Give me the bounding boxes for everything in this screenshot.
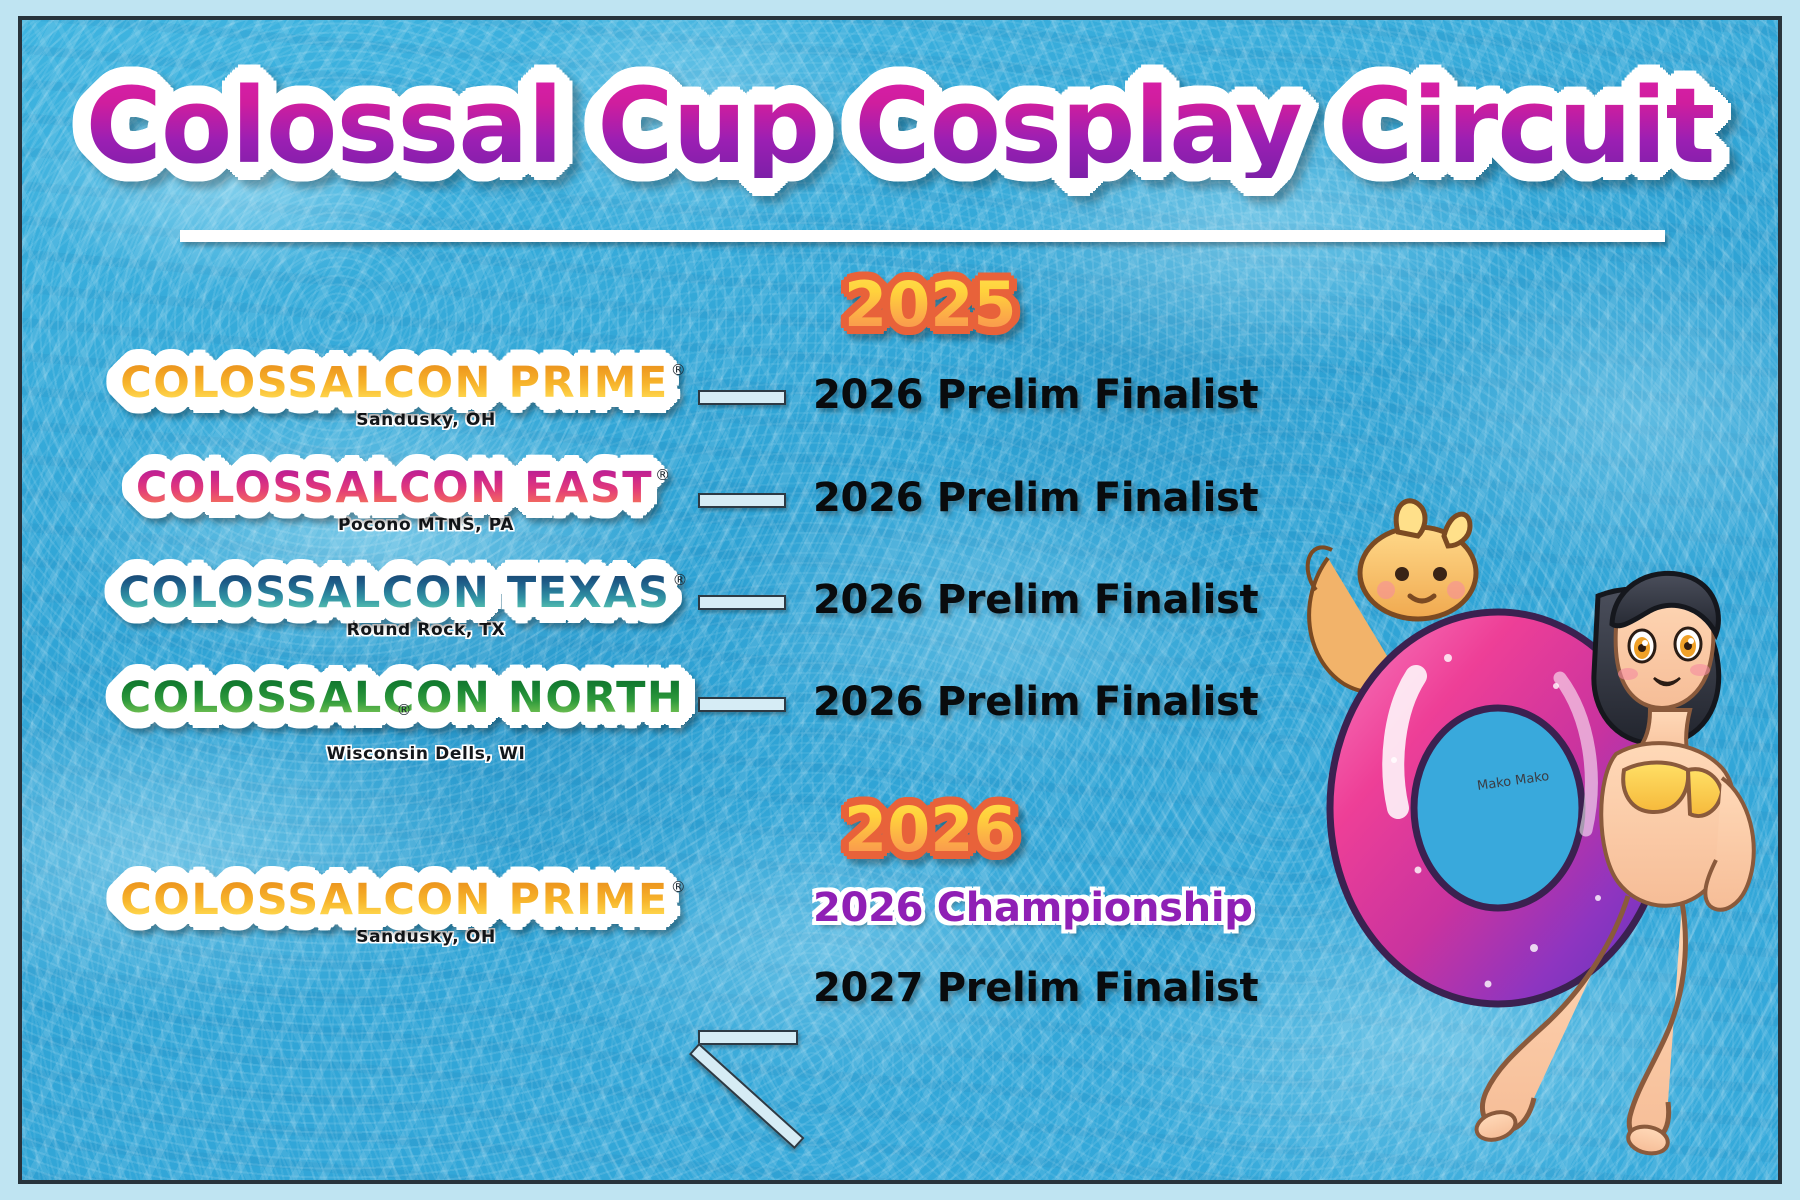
event-location: Round Rock, TX (117, 620, 687, 640)
connector-line-texas-2025 (698, 595, 786, 610)
registered-trademark-icon: ® (671, 878, 686, 896)
title-divider-rule (180, 230, 1665, 242)
connector-line-prime-2025 (698, 390, 786, 405)
event-logo-prime-2026[interactable]: COLOSSALCON PRIME® Sandusky, OH (117, 875, 687, 947)
event-logo-prime-2025[interactable]: COLOSSALCON PRIME® Sandusky, OH (117, 358, 687, 430)
connector-line-north-2025 (698, 697, 786, 712)
poster-canvas: Colossal Cup Cosplay Circuit 2025 COLOSS… (0, 0, 1800, 1200)
outcome-championship-2026: 2026 Championship (813, 885, 1253, 931)
title-container: Colossal Cup Cosplay Circuit (22, 74, 1778, 178)
registered-trademark-icon: ® (397, 701, 412, 719)
registered-trademark-icon: ® (672, 571, 687, 589)
event-location: Sandusky, OH (117, 410, 687, 430)
registered-trademark-icon: ® (655, 466, 670, 484)
poster-frame: Colossal Cup Cosplay Circuit 2025 COLOSS… (18, 16, 1782, 1184)
logo-wordmark: COLOSSALCON EAST (136, 463, 653, 513)
logo-wordmark: COLOSSALCON PRIME (120, 875, 669, 925)
registered-trademark-icon: ® (671, 361, 686, 379)
event-location: Pocono MTNS, PA (117, 515, 687, 535)
event-logo-texas-2025[interactable]: COLOSSALCON TEXAS® Round Rock, TX (117, 568, 687, 640)
outcome-prime-2025: 2026 Prelim Finalist (813, 372, 1258, 418)
outcome-north-2025: 2026 Prelim Finalist (813, 679, 1258, 725)
season-header-2025: 2025 (844, 268, 1017, 341)
outcome-texas-2025: 2026 Prelim Finalist (813, 577, 1258, 623)
event-logo-north-2025[interactable]: COLOSSALCON NORTH® Wisconsin Dells, WI (117, 673, 687, 764)
outcome-east-2025: 2026 Prelim Finalist (813, 475, 1258, 521)
logo-wordmark: COLOSSALCON PRIME (120, 358, 669, 408)
event-location: Sandusky, OH (117, 927, 687, 947)
page-title: Colossal Cup Cosplay Circuit (86, 74, 1715, 178)
logo-wordmark: COLOSSALCON TEXAS (119, 568, 671, 618)
connector-line-east-2025 (698, 493, 786, 508)
event-location: Wisconsin Dells, WI (117, 744, 687, 764)
connector-line-championship (698, 1030, 798, 1045)
outcome-prelim-2027: 2027 Prelim Finalist (813, 965, 1258, 1011)
season-header-2026: 2026 (844, 793, 1017, 866)
event-logo-east-2025[interactable]: COLOSSALCON EAST® Pocono MTNS, PA (117, 463, 687, 535)
